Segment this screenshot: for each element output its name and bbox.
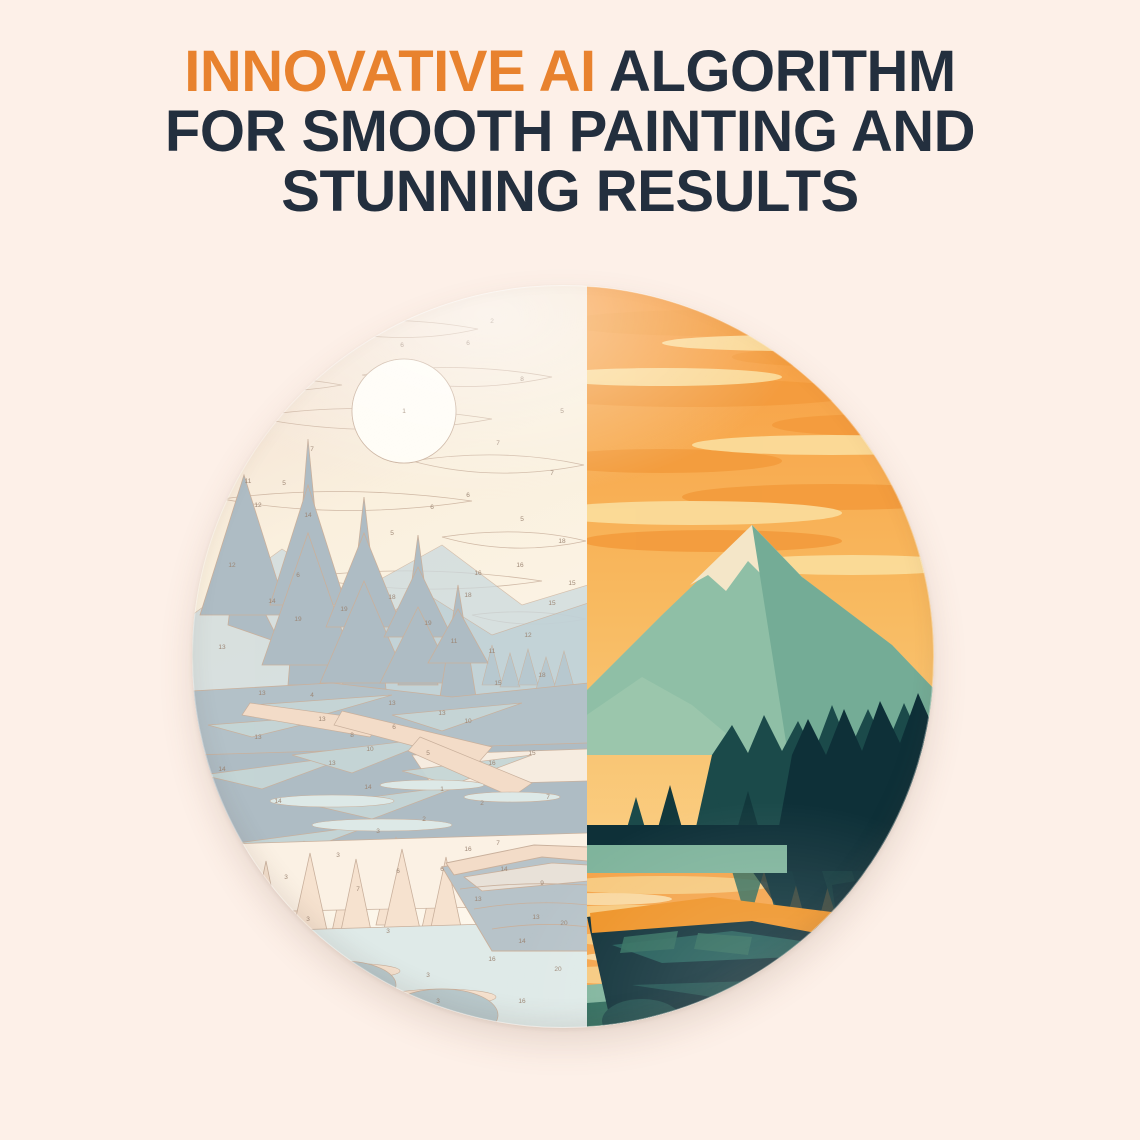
- svg-text:7: 7: [356, 886, 360, 893]
- svg-text:15: 15: [548, 600, 556, 607]
- svg-text:2: 2: [380, 326, 384, 333]
- svg-text:2: 2: [422, 816, 426, 823]
- svg-text:8: 8: [520, 376, 524, 383]
- svg-text:12: 12: [228, 562, 236, 569]
- svg-text:8: 8: [350, 732, 354, 739]
- svg-text:5: 5: [282, 480, 286, 487]
- svg-text:5: 5: [390, 530, 394, 537]
- svg-text:16: 16: [374, 980, 382, 987]
- svg-text:15: 15: [494, 680, 502, 687]
- svg-text:7: 7: [496, 840, 500, 847]
- headline-line-1-rest: ALGORITHM: [596, 39, 956, 104]
- svg-text:3: 3: [426, 972, 430, 979]
- svg-text:3: 3: [336, 852, 340, 859]
- svg-text:18: 18: [328, 964, 336, 971]
- svg-text:3: 3: [256, 900, 260, 907]
- svg-text:5: 5: [426, 750, 430, 757]
- lake-sunset-illustration: 1 222 286 667 778 655 656 65 111112 1412…: [192, 285, 934, 1028]
- svg-text:18: 18: [388, 594, 396, 601]
- svg-text:19: 19: [424, 620, 432, 627]
- svg-text:15: 15: [344, 1004, 352, 1011]
- svg-text:1: 1: [402, 408, 406, 415]
- svg-text:12: 12: [254, 502, 262, 509]
- svg-text:2: 2: [490, 318, 494, 325]
- svg-text:7: 7: [496, 440, 500, 447]
- svg-text:16: 16: [474, 570, 482, 577]
- svg-text:11: 11: [239, 422, 246, 429]
- svg-text:6: 6: [430, 504, 434, 511]
- svg-text:13: 13: [438, 710, 446, 717]
- svg-text:15: 15: [568, 580, 576, 587]
- svg-text:14: 14: [218, 766, 226, 773]
- svg-text:13: 13: [258, 690, 266, 697]
- headline-line-1: INNOVATIVE AI ALGORITHM: [0, 42, 1140, 102]
- svg-text:6: 6: [296, 572, 300, 579]
- svg-text:19: 19: [340, 606, 348, 613]
- svg-text:14: 14: [518, 938, 526, 945]
- svg-text:14: 14: [268, 598, 276, 605]
- svg-text:2: 2: [300, 366, 304, 373]
- svg-text:11: 11: [245, 478, 252, 485]
- svg-text:3: 3: [376, 828, 380, 835]
- svg-text:13: 13: [218, 644, 226, 651]
- svg-text:16: 16: [516, 562, 524, 569]
- svg-text:3: 3: [436, 998, 440, 1005]
- svg-text:20: 20: [560, 920, 568, 927]
- svg-text:18: 18: [558, 538, 566, 545]
- svg-text:3: 3: [306, 916, 310, 923]
- headline-line-2: FOR SMOOTH PAINTING AND: [0, 102, 1140, 162]
- svg-text:16: 16: [464, 846, 472, 853]
- svg-text:14: 14: [294, 992, 302, 999]
- svg-text:13: 13: [254, 734, 262, 741]
- svg-text:16: 16: [488, 760, 496, 767]
- svg-text:10: 10: [464, 718, 472, 725]
- svg-text:14: 14: [274, 798, 282, 805]
- svg-text:15: 15: [274, 952, 282, 959]
- svg-text:5: 5: [520, 516, 524, 523]
- svg-text:6: 6: [396, 868, 400, 875]
- svg-text:2: 2: [480, 800, 484, 807]
- svg-text:5: 5: [560, 408, 564, 415]
- svg-text:6: 6: [214, 476, 218, 483]
- svg-text:6: 6: [466, 492, 470, 499]
- svg-text:1: 1: [440, 786, 444, 793]
- svg-text:15: 15: [528, 750, 536, 757]
- paint-by-numbers-half: 1 222 286 667 778 655 656 65 111112 1412…: [192, 285, 588, 1028]
- svg-text:6: 6: [440, 866, 444, 873]
- svg-text:14: 14: [304, 512, 312, 519]
- svg-text:10: 10: [366, 746, 374, 753]
- svg-text:11: 11: [451, 638, 458, 645]
- svg-text:13: 13: [474, 896, 482, 903]
- svg-text:14: 14: [500, 866, 508, 873]
- headline-accent: INNOVATIVE AI: [184, 39, 595, 104]
- svg-text:14: 14: [364, 784, 372, 791]
- svg-text:9: 9: [540, 880, 544, 887]
- svg-text:11: 11: [489, 648, 496, 655]
- svg-text:12: 12: [524, 632, 532, 639]
- svg-text:13: 13: [318, 716, 326, 723]
- svg-text:6: 6: [466, 340, 470, 347]
- svg-text:18: 18: [464, 592, 472, 599]
- svg-text:7: 7: [550, 470, 554, 477]
- svg-text:6: 6: [330, 344, 334, 351]
- page-title: INNOVATIVE AI ALGORITHM FOR SMOOTH PAINT…: [0, 42, 1140, 222]
- svg-text:6: 6: [400, 342, 404, 349]
- svg-text:8: 8: [234, 440, 238, 447]
- svg-text:18: 18: [538, 672, 546, 679]
- artwork-container: 1 222 286 667 778 655 656 65 111112 1412…: [192, 285, 934, 1028]
- svg-text:3: 3: [284, 874, 288, 881]
- svg-text:7: 7: [310, 446, 314, 453]
- svg-text:2: 2: [250, 398, 254, 405]
- svg-text:16: 16: [518, 998, 526, 1005]
- svg-text:19: 19: [294, 616, 302, 623]
- svg-text:16: 16: [488, 956, 496, 963]
- circular-artwork-disc: 1 222 286 667 778 655 656 65 111112 1412…: [192, 285, 934, 1028]
- svg-text:13: 13: [388, 700, 396, 707]
- svg-text:13: 13: [532, 914, 540, 921]
- svg-text:13: 13: [328, 760, 336, 767]
- svg-text:14: 14: [228, 938, 236, 945]
- headline-line-3: STUNNING RESULTS: [0, 162, 1140, 222]
- svg-text:4: 4: [310, 692, 314, 699]
- svg-text:7: 7: [546, 794, 550, 801]
- svg-text:3: 3: [386, 928, 390, 935]
- svg-text:20: 20: [554, 966, 562, 973]
- svg-text:6: 6: [392, 724, 396, 731]
